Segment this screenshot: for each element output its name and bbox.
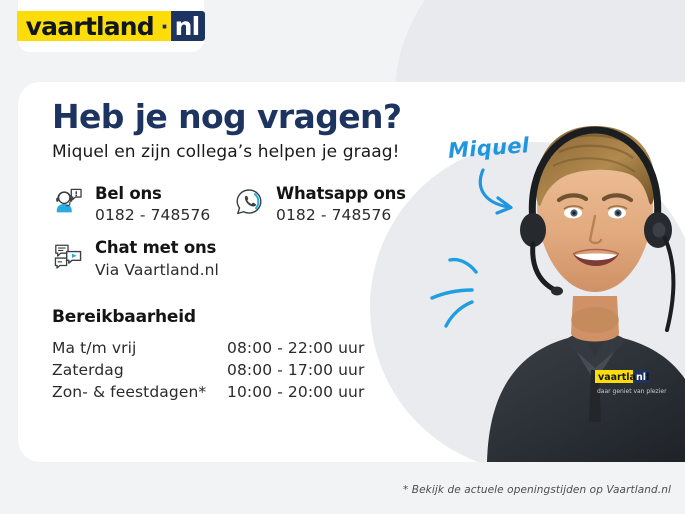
availability-title: Bereikbaarheid bbox=[52, 307, 432, 327]
contact-row: Bel ons 0182 - 748576 bbox=[52, 184, 432, 225]
chat-bubbles-icon bbox=[52, 239, 84, 273]
logo-wordmark: vaartland bbox=[17, 11, 161, 41]
contact-call-text: Bel ons 0182 - 748576 bbox=[95, 184, 210, 225]
table-row: Zon- & feestdagen* 10:00 - 20:00 uur bbox=[52, 381, 364, 403]
svg-text:daar geniet van plezier: daar geniet van plezier bbox=[597, 388, 667, 395]
contact-card: Heb je nog vragen? Miquel en zijn colleg… bbox=[18, 82, 685, 462]
logo-tld: nl bbox=[171, 11, 206, 41]
availability-hours: 10:00 - 20:00 uur bbox=[227, 381, 364, 403]
contact-whatsapp[interactable]: Whatsapp ons 0182 - 748576 bbox=[233, 184, 406, 225]
availability-section: Bereikbaarheid Ma t/m vrij 08:00 - 22:00… bbox=[52, 307, 432, 403]
svg-text:nl: nl bbox=[636, 372, 646, 383]
availability-day: Ma t/m vrij bbox=[52, 337, 227, 359]
card-content: Heb je nog vragen? Miquel en zijn colleg… bbox=[52, 100, 432, 403]
page-subtitle: Miquel en zijn collega’s helpen je graag… bbox=[52, 142, 432, 162]
contact-chat-value[interactable]: Via Vaartland.nl bbox=[95, 261, 219, 279]
availability-table: Ma t/m vrij 08:00 - 22:00 uur Zaterdag 0… bbox=[52, 337, 364, 403]
contact-chat-title: Chat met ons bbox=[95, 238, 219, 257]
contact-call-title: Bel ons bbox=[95, 184, 210, 203]
logo-separator-dot: · bbox=[161, 11, 171, 41]
contact-whatsapp-text: Whatsapp ons 0182 - 748576 bbox=[276, 184, 406, 225]
contact-whatsapp-title: Whatsapp ons bbox=[276, 184, 406, 203]
vaartland-logo[interactable]: vaartland · nl bbox=[18, 0, 204, 52]
table-row: Zaterdag 08:00 - 17:00 uur bbox=[52, 359, 364, 381]
availability-day: Zaterdag bbox=[52, 359, 227, 381]
contact-chat-text: Chat met ons Via Vaartland.nl bbox=[95, 238, 219, 279]
table-row: Ma t/m vrij 08:00 - 22:00 uur bbox=[52, 337, 364, 359]
availability-day: Zon- & feestdagen* bbox=[52, 381, 227, 403]
contact-chat[interactable]: Chat met ons Via Vaartland.nl bbox=[52, 238, 233, 279]
contact-banner: vaartland · nl Heb je nog vragen? Miquel… bbox=[0, 0, 685, 514]
contact-methods: Bel ons 0182 - 748576 bbox=[52, 184, 432, 280]
contact-call[interactable]: Bel ons 0182 - 748576 bbox=[52, 184, 233, 225]
headset-agent-icon bbox=[52, 185, 84, 219]
contact-whatsapp-value[interactable]: 0182 - 748576 bbox=[276, 206, 406, 224]
availability-hours: 08:00 - 17:00 uur bbox=[227, 359, 364, 381]
availability-hours: 08:00 - 22:00 uur bbox=[227, 337, 364, 359]
motion-dashes-decoration bbox=[428, 242, 508, 332]
logo-lockup: vaartland · nl bbox=[17, 11, 206, 41]
contact-row: Chat met ons Via Vaartland.nl bbox=[52, 238, 432, 279]
curved-arrow-icon bbox=[474, 166, 544, 218]
whatsapp-icon bbox=[233, 185, 265, 219]
page-title: Heb je nog vragen? bbox=[52, 100, 432, 135]
contact-call-value[interactable]: 0182 - 748576 bbox=[95, 206, 210, 224]
footnote-text: * Bekijk de actuele openingstijden op Va… bbox=[403, 484, 671, 496]
